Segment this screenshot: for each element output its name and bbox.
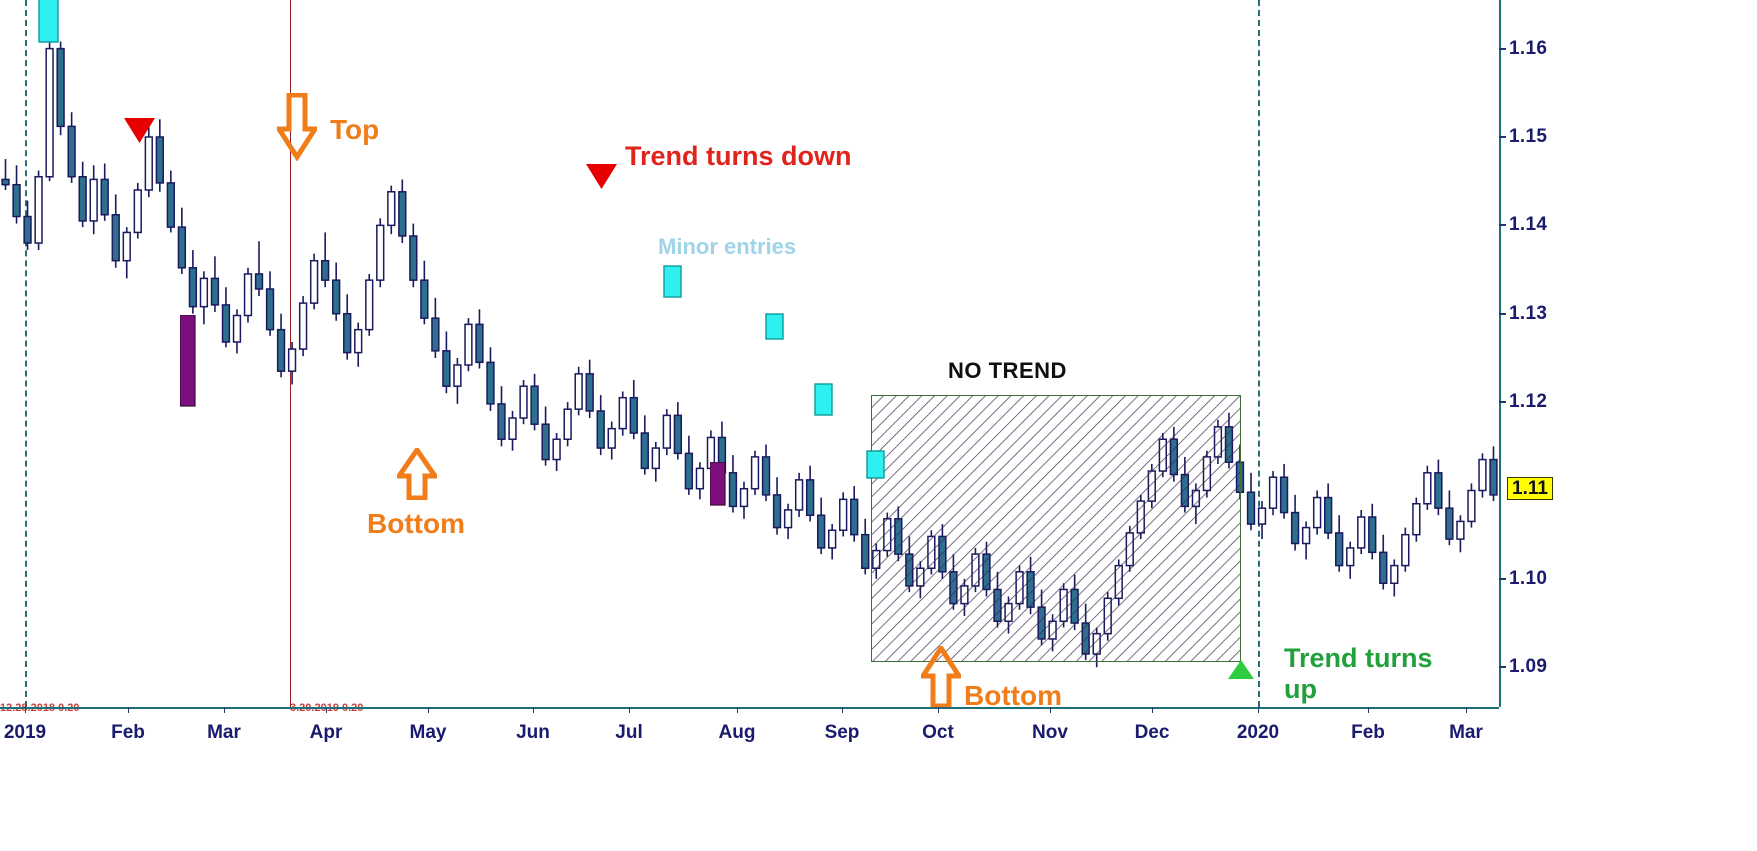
time-axis-label: Dec bbox=[1135, 723, 1170, 742]
time-axis[interactable]: 2019FebMarAprMayJunJulAugSepOctNovDec202… bbox=[0, 707, 1499, 851]
time-axis-tick bbox=[1152, 707, 1153, 713]
time-axis-tick bbox=[842, 707, 843, 713]
price-axis-label: 1.15 bbox=[1509, 127, 1547, 146]
time-axis-tick bbox=[1050, 707, 1051, 713]
time-axis-tick bbox=[128, 707, 129, 713]
time-axis-tick bbox=[224, 707, 225, 713]
annotation-no-trend: NO TREND bbox=[948, 358, 1067, 383]
bottom-arrow-up-icon-2 bbox=[921, 646, 961, 708]
time-axis-label: May bbox=[410, 723, 447, 742]
time-axis-tick bbox=[1258, 707, 1259, 713]
annotation-minor-entries: Minor entries bbox=[658, 234, 796, 259]
price-axis-tick bbox=[1499, 313, 1506, 315]
price-axis-line bbox=[1499, 0, 1501, 707]
red-down-triangle-icon bbox=[124, 118, 156, 144]
price-axis-label: 1.16 bbox=[1509, 39, 1547, 58]
annotation-trend-turns-down: Trend turns down bbox=[625, 141, 852, 172]
no-trend-box bbox=[871, 395, 1241, 662]
time-axis-label: Apr bbox=[310, 723, 343, 742]
price-axis-tick bbox=[1499, 136, 1506, 138]
price-axis-label: 1.12 bbox=[1509, 392, 1547, 411]
price-plot-area[interactable] bbox=[0, 0, 1499, 707]
price-axis-tick bbox=[1499, 224, 1506, 226]
cyan-entry-marker bbox=[814, 383, 834, 417]
bottom-arrow-up-icon-1 bbox=[397, 448, 437, 500]
time-axis-label: 2019 bbox=[4, 723, 46, 742]
purple-entry-marker bbox=[180, 315, 196, 407]
price-axis-label: 1.13 bbox=[1509, 304, 1547, 323]
time-axis-tick bbox=[428, 707, 429, 713]
cyan-entry-marker bbox=[663, 265, 683, 299]
price-axis-label: 1.14 bbox=[1509, 215, 1547, 234]
chart-root: Top Bottom Bottom Trend turns down Minor… bbox=[0, 0, 1757, 851]
price-axis-tick bbox=[1499, 401, 1506, 403]
time-axis-tick bbox=[1466, 707, 1467, 713]
price-axis-label: 1.09 bbox=[1509, 657, 1547, 676]
time-axis-label: 2020 bbox=[1237, 723, 1279, 742]
price-axis[interactable]: 1.161.151.141.131.121.101.09 1.11 bbox=[1499, 0, 1757, 707]
time-axis-label: Feb bbox=[1351, 723, 1385, 742]
time-axis-tick bbox=[737, 707, 738, 713]
purple-entry-marker bbox=[710, 462, 726, 506]
time-axis-label: Sep bbox=[825, 723, 860, 742]
candlestick-series bbox=[0, 0, 1499, 707]
time-axis-label: Jun bbox=[516, 723, 550, 742]
time-axis-tick bbox=[938, 707, 939, 713]
time-axis-tick bbox=[533, 707, 534, 713]
annotation-top: Top bbox=[330, 114, 379, 146]
annotation-trend-turns-up: Trend turns up bbox=[1284, 643, 1433, 705]
time-axis-tick bbox=[25, 707, 26, 713]
last-price-badge: 1.11 bbox=[1507, 477, 1553, 500]
time-axis-tick bbox=[326, 707, 327, 713]
time-axis-label: Feb bbox=[111, 723, 145, 742]
time-axis-tick bbox=[1368, 707, 1369, 713]
time-axis-label: Jul bbox=[615, 723, 642, 742]
time-axis-tick bbox=[629, 707, 630, 713]
time-axis-label: Mar bbox=[1449, 723, 1483, 742]
time-axis-label: Mar bbox=[207, 723, 241, 742]
annotation-bottom-1: Bottom bbox=[367, 508, 465, 540]
time-axis-label: Nov bbox=[1032, 723, 1068, 742]
cyan-entry-marker bbox=[38, 0, 60, 44]
cyan-entry-marker bbox=[765, 313, 785, 341]
time-axis-label: Aug bbox=[719, 723, 756, 742]
price-axis-label: 1.10 bbox=[1509, 569, 1547, 588]
price-axis-tick bbox=[1499, 48, 1506, 50]
cyan-entry-marker bbox=[866, 450, 886, 480]
red-down-triangle-icon bbox=[586, 164, 618, 190]
price-axis-tick bbox=[1499, 666, 1506, 668]
time-axis-label: Oct bbox=[922, 723, 954, 742]
green-up-triangle-icon bbox=[1228, 660, 1254, 680]
top-arrow-down-icon bbox=[277, 93, 317, 161]
price-axis-tick bbox=[1499, 578, 1506, 580]
